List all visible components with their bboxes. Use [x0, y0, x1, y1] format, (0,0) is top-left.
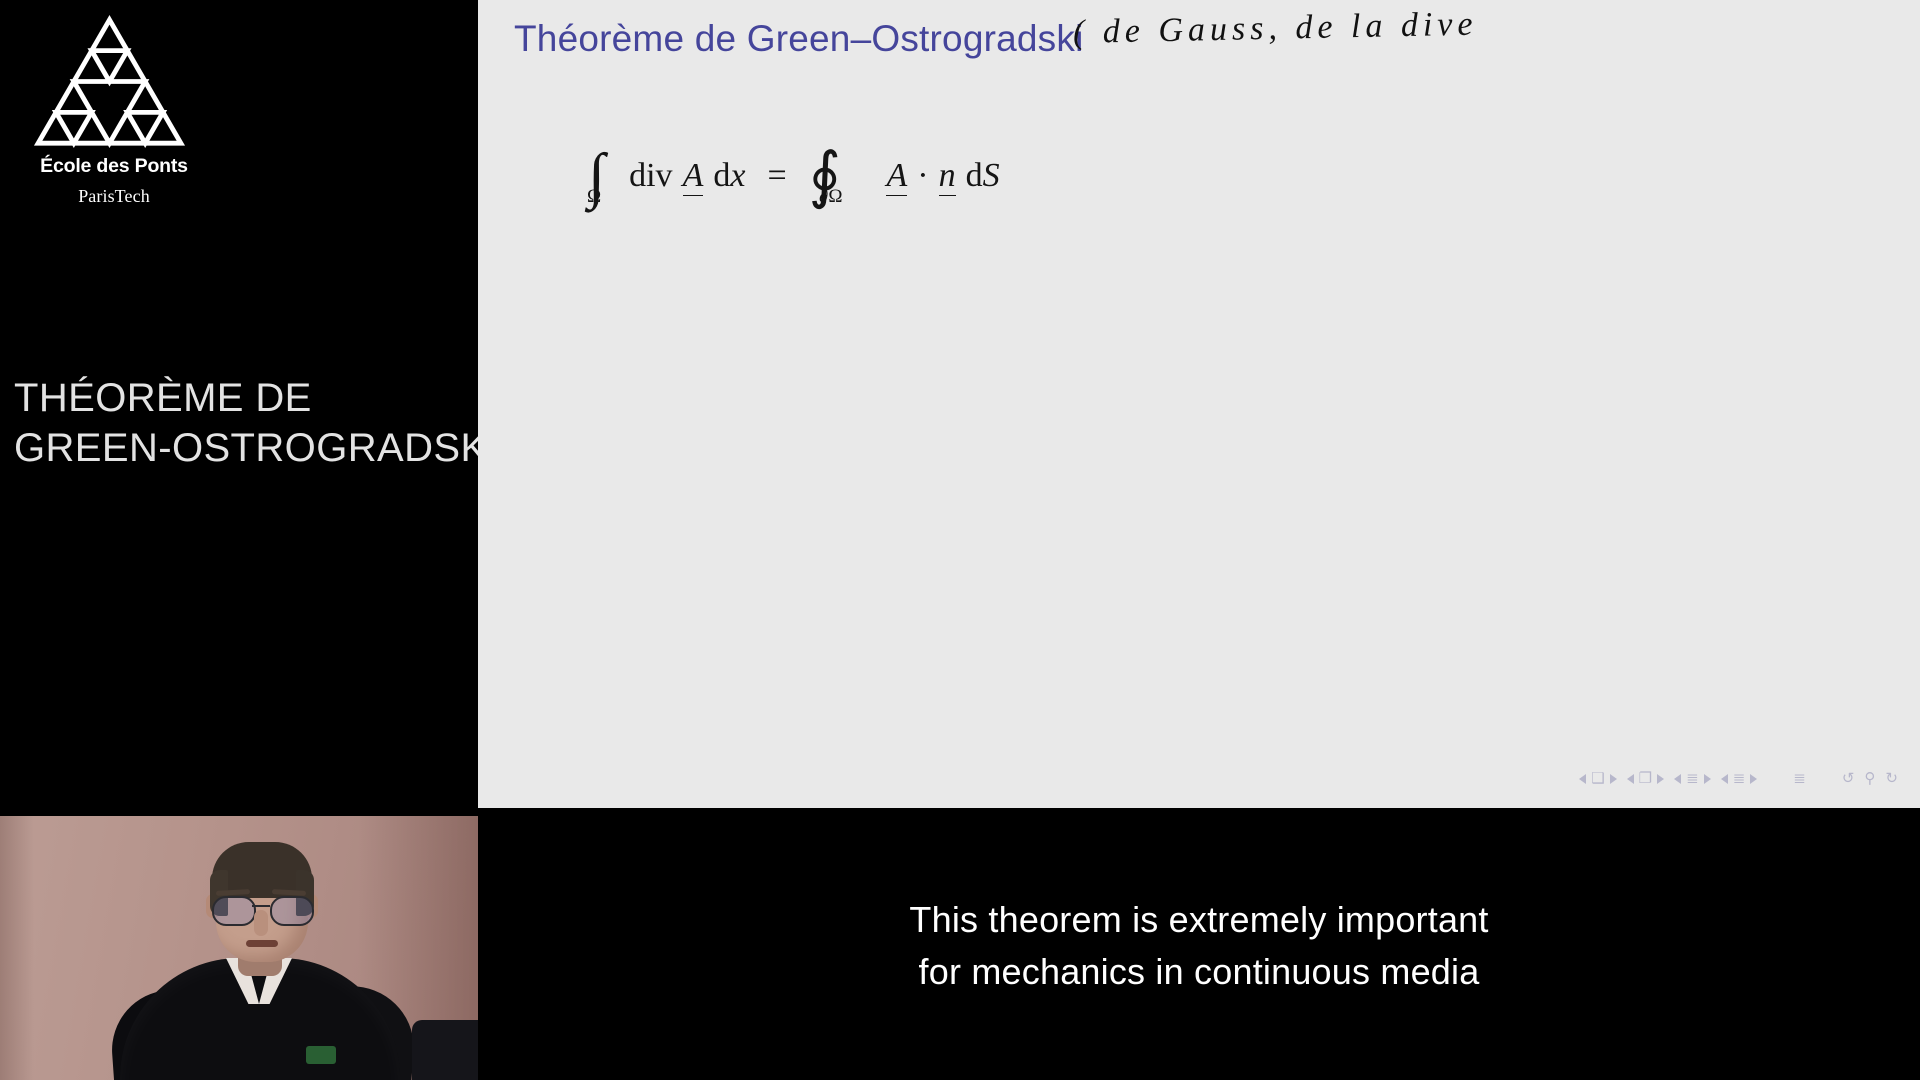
prev-slide-icon[interactable]	[1579, 774, 1586, 784]
prev-frame-icon[interactable]	[1627, 774, 1634, 784]
slide-navigation-icon[interactable]: ❑	[1591, 771, 1604, 786]
section-navigation-group[interactable]: ≣	[1721, 771, 1758, 786]
deck-title-line-1: THÉORÈME DE	[14, 373, 474, 423]
normal-vector-n: n	[939, 157, 956, 196]
lecturer-mouth	[246, 940, 278, 947]
glasses-left-lens	[212, 896, 256, 926]
dot-product-symbol: ·	[917, 157, 928, 194]
sweater-brand-patch	[306, 1046, 336, 1064]
presentation-overview-icon[interactable]: ≣	[1793, 771, 1806, 786]
lecturer-video-feed[interactable]	[0, 812, 478, 1080]
lecture-recording-screen: École des Ponts ParisTech THÉORÈME DE GR…	[0, 0, 1920, 1080]
next-section-icon[interactable]	[1750, 774, 1757, 784]
frame-navigation-group[interactable]: ❐	[1627, 771, 1664, 786]
slide-navigation-group[interactable]: ❑	[1579, 771, 1616, 786]
caption-line-2: for mechanics in continuous media	[919, 946, 1480, 998]
boundary-domain-limit: ∂Ω	[819, 186, 843, 207]
glasses-right-lens	[270, 896, 314, 926]
section-navigation-icon[interactable]: ≣	[1733, 771, 1746, 786]
differential-d-surface: d	[966, 157, 983, 194]
subtitle-caption: This theorem is extremely important for …	[478, 812, 1920, 1080]
differential-x: x	[730, 157, 745, 194]
frame-navigation-icon[interactable]: ❐	[1639, 771, 1652, 786]
lecturer-nose	[254, 910, 268, 936]
forward-arrow-icon[interactable]: ↻	[1885, 771, 1898, 786]
next-frame-icon[interactable]	[1657, 774, 1664, 784]
institution-name: École des Ponts	[14, 155, 214, 178]
surface-element-S: S	[983, 157, 1000, 194]
slide-viewport[interactable]: Théorème de Green–Ostrogradski ( de Gaus…	[478, 0, 1920, 808]
integral-domain-limit: Ω	[587, 186, 601, 207]
beamer-navigation-bar[interactable]: ❑ ❐ ≣ ≣ ≣ ↺ ⚲ ↻	[1579, 771, 1898, 786]
search-icon[interactable]: ⚲	[1864, 771, 1875, 786]
prev-subsection-icon[interactable]	[1674, 774, 1681, 784]
differential-d: d	[713, 157, 730, 194]
subsection-navigation-group[interactable]: ≣	[1674, 771, 1711, 786]
chair-back	[412, 1020, 478, 1080]
vector-field-A: A	[683, 157, 704, 196]
sierpinski-triangle-logo-icon	[32, 14, 187, 149]
prev-section-icon[interactable]	[1721, 774, 1728, 784]
institution-logo-block: École des Ponts ParisTech	[14, 14, 214, 204]
glasses-bridge	[252, 905, 270, 907]
slide-title: Théorème de Green–Ostrogradski	[514, 18, 1084, 60]
video-top-letterbox	[0, 812, 478, 816]
caption-line-1: This theorem is extremely important	[909, 894, 1488, 946]
back-arrow-icon[interactable]: ↺	[1842, 771, 1855, 786]
lecturer-figure	[120, 840, 400, 1080]
divergence-theorem-formula: ∫ΩdivAdx=∮∂ΩA·ndS	[588, 128, 1000, 202]
divergence-operator: div	[629, 157, 672, 194]
video-wall-left-shading	[0, 812, 34, 1080]
vector-field-A-2: A	[886, 157, 907, 196]
deck-title: THÉORÈME DE GREEN-OSTROGRADSKI	[14, 373, 474, 473]
left-branding-panel: École des Ponts ParisTech THÉORÈME DE GR…	[0, 0, 478, 812]
next-subsection-icon[interactable]	[1704, 774, 1711, 784]
subsection-navigation-icon[interactable]: ≣	[1686, 771, 1699, 786]
deck-title-line-2: GREEN-OSTROGRADSKI	[14, 423, 474, 473]
institution-subname: ParisTech	[14, 186, 214, 207]
next-slide-icon[interactable]	[1610, 774, 1617, 784]
equals-sign: =	[767, 157, 786, 194]
handwritten-annotation: ( de Gauss, de la dive	[1073, 6, 1478, 52]
